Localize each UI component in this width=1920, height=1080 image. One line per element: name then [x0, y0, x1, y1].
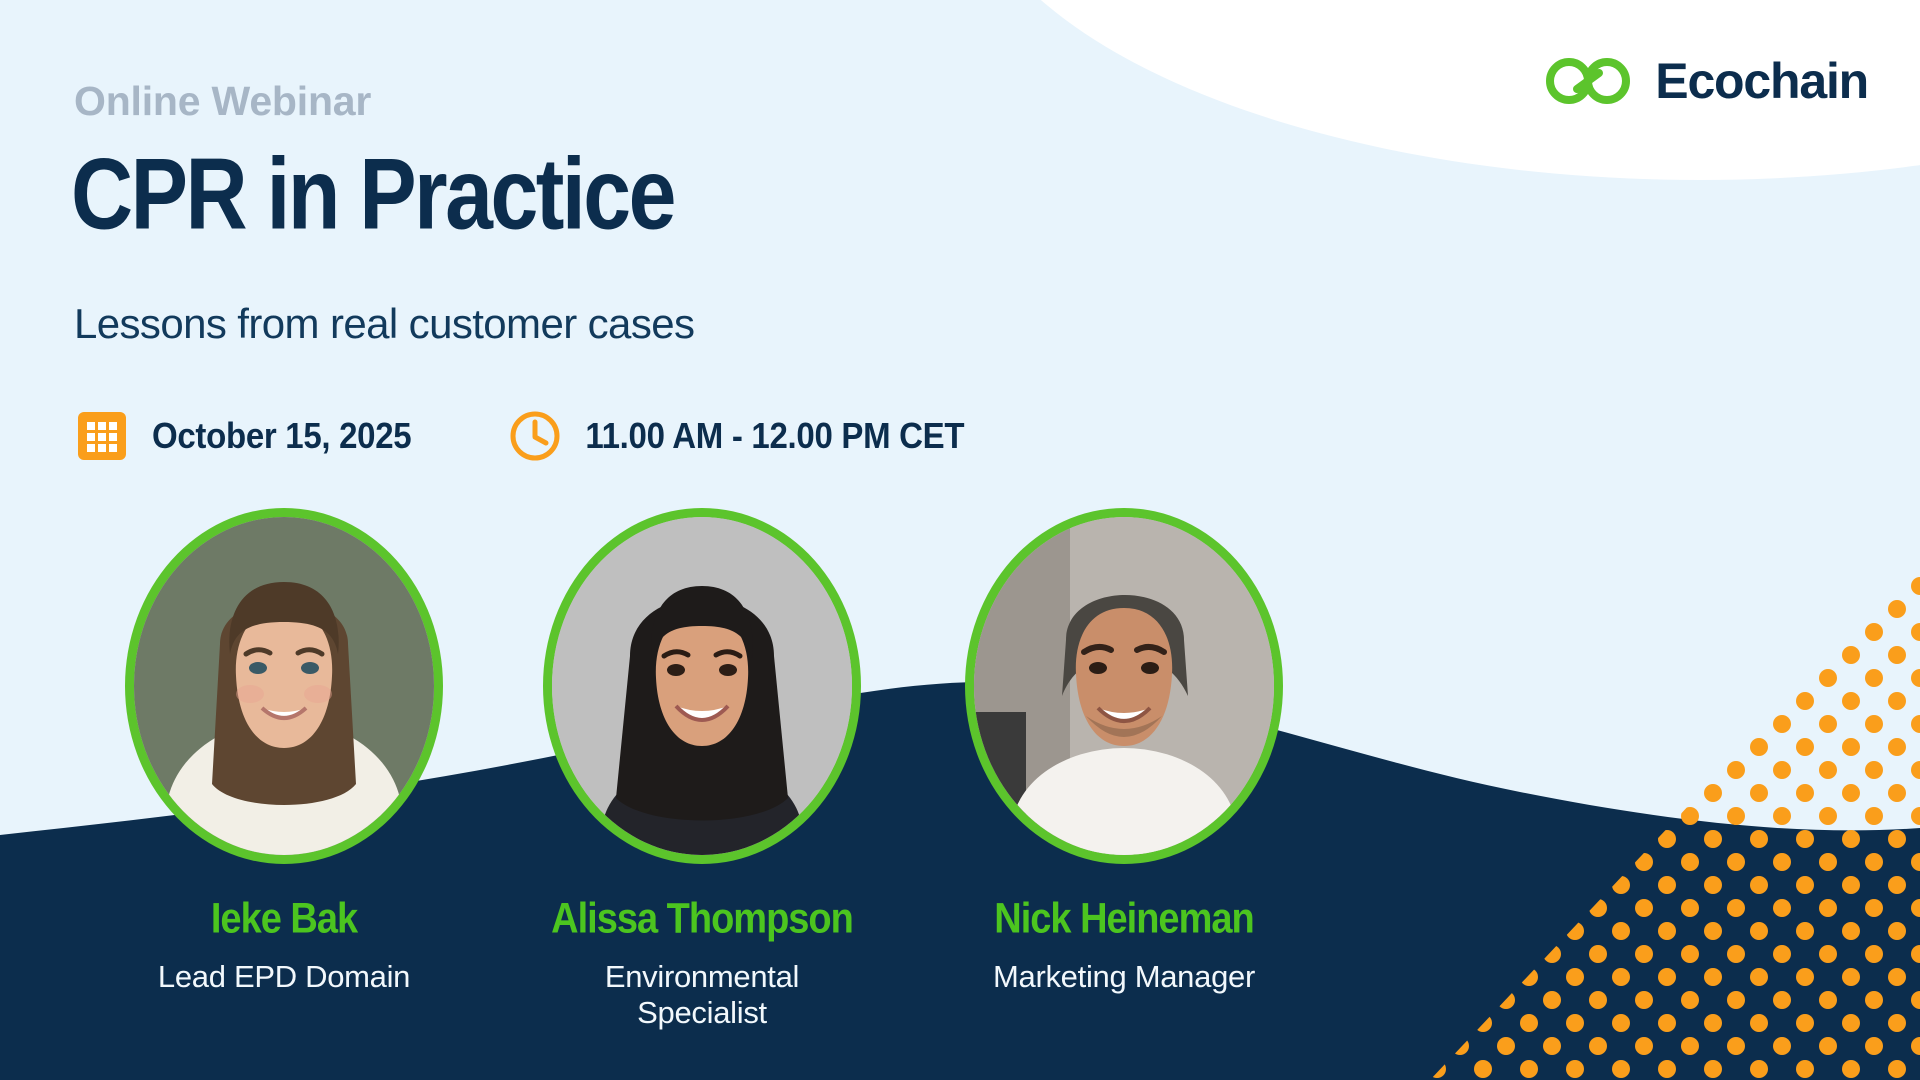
eyebrow-label: Online Webinar	[74, 78, 371, 125]
avatar	[543, 508, 861, 864]
event-time: 11.00 AM - 12.00 PM CET	[507, 408, 964, 464]
brand-name: Ecochain	[1655, 52, 1868, 110]
event-meta-row: October 15, 2025 11.00 AM - 12.00 PM CET	[74, 408, 964, 464]
portrait-ieke-bak	[134, 517, 434, 855]
page-title: CPR in Practice	[71, 140, 674, 250]
portrait-nick-heineman	[974, 517, 1274, 855]
webinar-promo-banner: Online Webinar CPR in Practice Lessons f…	[0, 0, 1920, 1080]
calendar-icon	[74, 408, 130, 464]
avatar	[125, 508, 443, 864]
speaker-name: Ieke Bak	[211, 895, 357, 943]
brand-logo: Ecochain	[1543, 52, 1868, 110]
speakers-row: Ieke Bak Lead EPD Domain	[0, 508, 1500, 1030]
event-date: October 15, 2025	[74, 408, 411, 464]
portrait-alissa-thompson	[552, 517, 852, 855]
speaker-card: Alissa Thompson Environmental Specialist	[480, 508, 924, 1030]
clock-icon	[507, 408, 563, 464]
speaker-role: Environmental Specialist	[537, 959, 867, 1030]
page-subtitle: Lessons from real customer cases	[74, 300, 694, 348]
speaker-name: Nick Heineman	[994, 895, 1253, 943]
event-time-text: 11.00 AM - 12.00 PM CET	[585, 415, 964, 457]
speaker-card: Nick Heineman Marketing Manager	[902, 508, 1346, 1030]
speaker-name: Alissa Thompson	[551, 895, 853, 943]
avatar	[965, 508, 1283, 864]
speaker-card: Ieke Bak Lead EPD Domain	[62, 508, 506, 1030]
event-date-text: October 15, 2025	[152, 415, 411, 457]
speaker-role: Marketing Manager	[993, 959, 1255, 995]
infinity-links-icon	[1543, 55, 1635, 107]
speaker-role: Lead EPD Domain	[158, 959, 410, 995]
